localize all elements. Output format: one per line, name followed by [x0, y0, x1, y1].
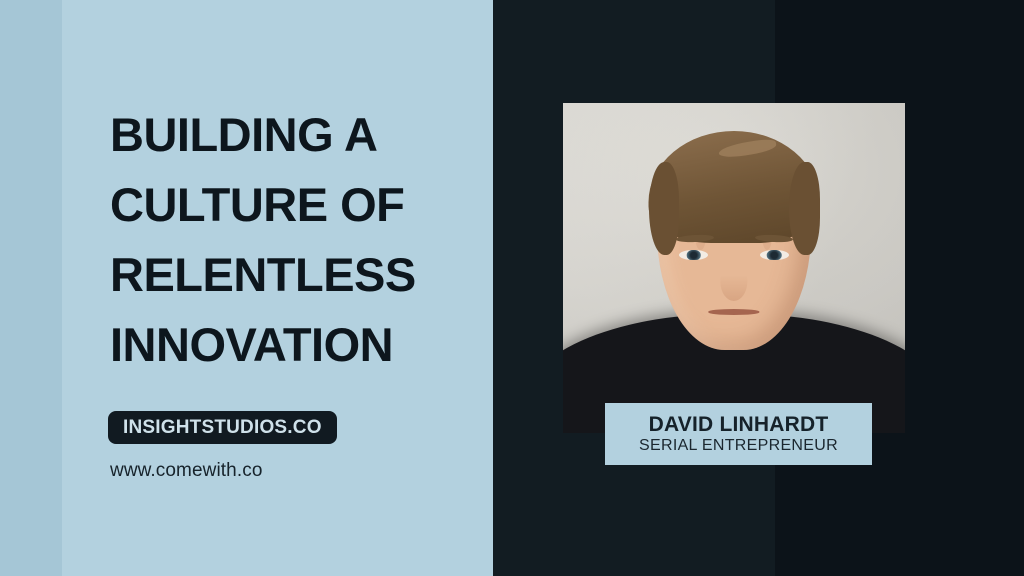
page-title: BUILDING A CULTURE OF RELENTLESS INNOVAT… — [110, 100, 480, 380]
iris-right-shape — [767, 250, 782, 261]
brand-badge-label: INSIGHTSTUDIOS.CO — [123, 418, 322, 437]
title-line-1: BUILDING A — [110, 100, 480, 170]
brand-badge[interactable]: INSIGHTSTUDIOS.CO — [108, 411, 337, 444]
iris-left-shape — [687, 250, 702, 261]
blue-edge-stripe — [0, 0, 62, 576]
nose-shape — [720, 261, 747, 301]
hair-side-right-shape — [789, 162, 820, 254]
presentation-slide: BUILDING A CULTURE OF RELENTLESS INNOVAT… — [0, 0, 1024, 576]
speaker-name: DAVID LINHARDT — [649, 414, 829, 436]
title-line-2: CULTURE OF — [110, 170, 480, 240]
title-line-3: RELENTLESS — [110, 240, 480, 310]
speaker-photo — [563, 103, 905, 433]
speaker-role: SERIAL ENTREPRENEUR — [639, 438, 838, 455]
website-url[interactable]: www.comewith.co — [110, 460, 263, 482]
speaker-photo-image — [563, 103, 905, 433]
title-line-4: INNOVATION — [110, 310, 480, 380]
speaker-name-plate: DAVID LINHARDT SERIAL ENTREPRENEUR — [605, 403, 872, 465]
hair-sweep-shape — [718, 138, 778, 160]
hair-side-left-shape — [649, 162, 680, 254]
